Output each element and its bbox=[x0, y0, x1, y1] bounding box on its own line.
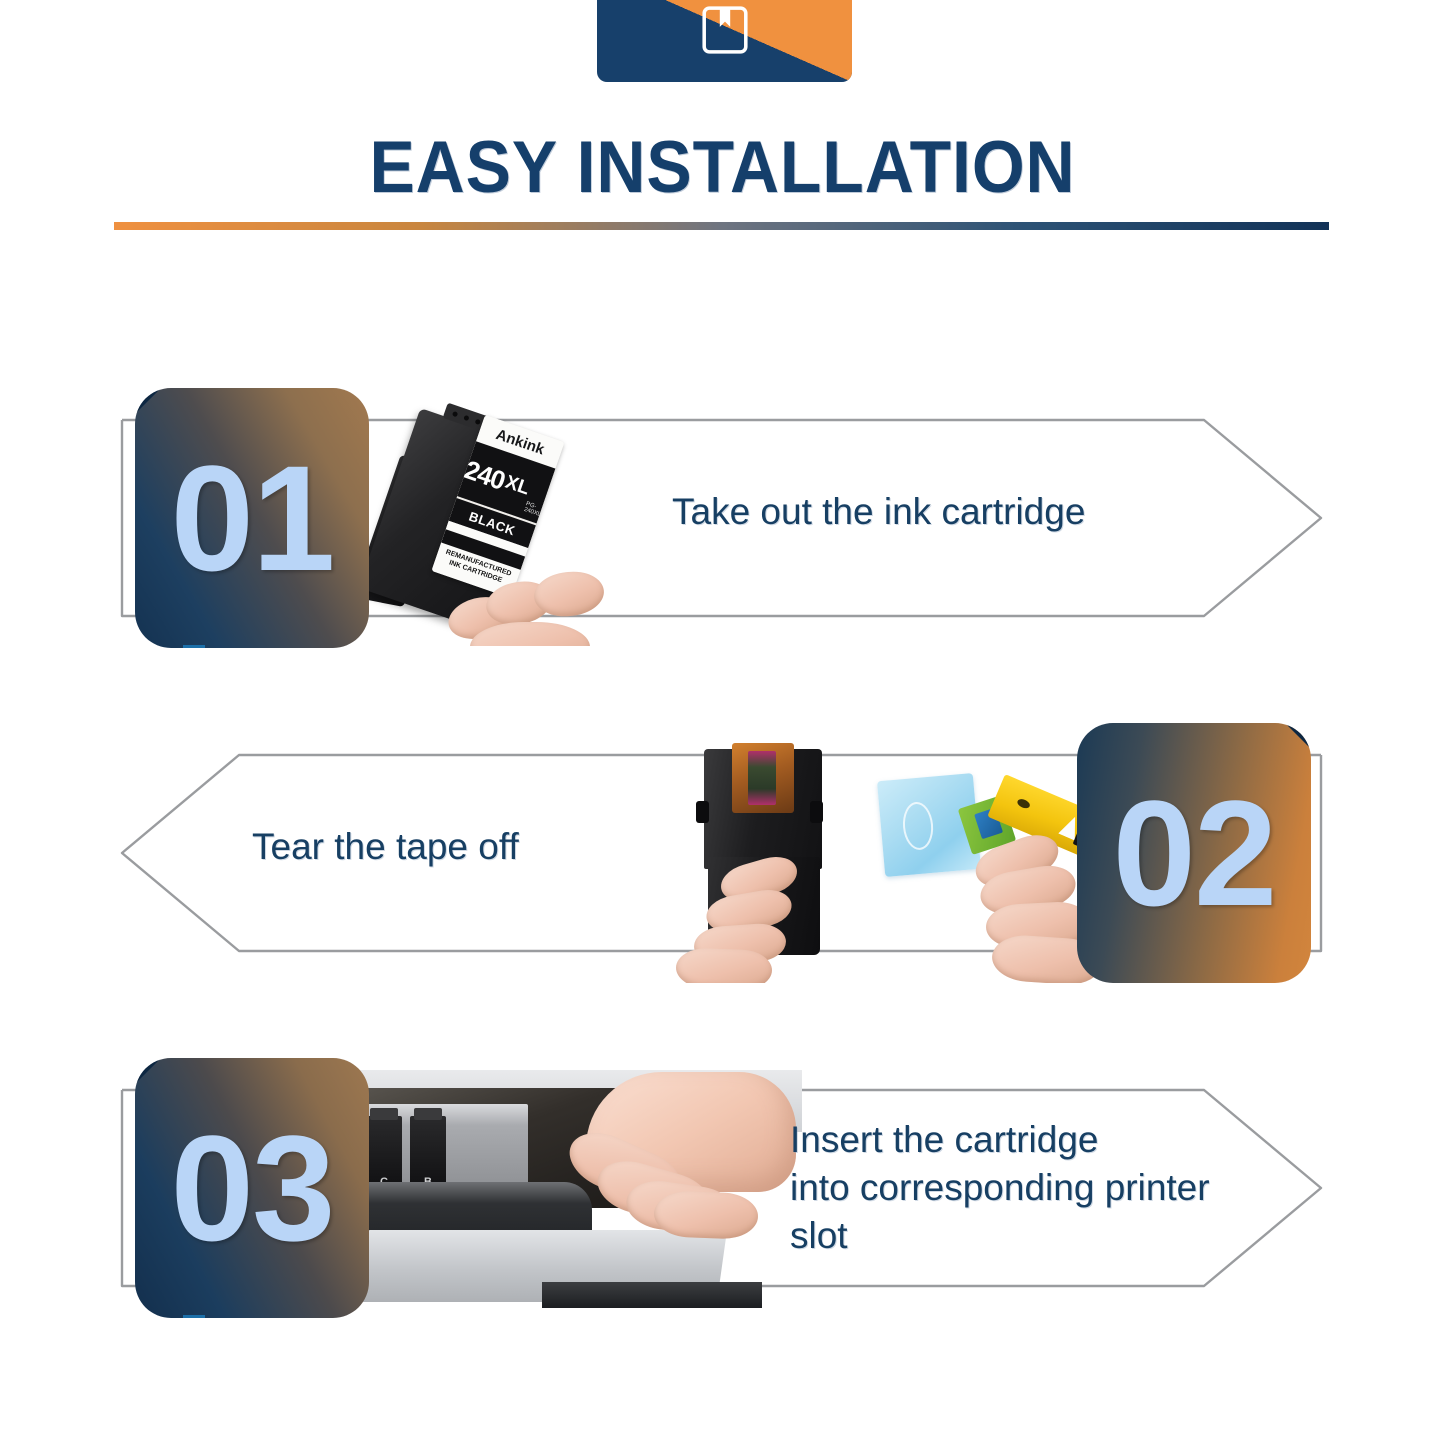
hand-holding-cartridge-2 bbox=[676, 853, 836, 983]
step-03-number-badge: 03 bbox=[135, 1058, 369, 1318]
step-02-number-badge: 02 bbox=[1077, 723, 1311, 983]
hand-holding-cartridge bbox=[430, 564, 620, 646]
step-01-number: 01 bbox=[171, 443, 334, 593]
hand-inserting-cartridge bbox=[522, 1072, 792, 1272]
step-01-number-badge: 01 bbox=[135, 388, 369, 648]
cartridge-2-nozzle bbox=[732, 743, 794, 813]
step-03-number: 03 bbox=[171, 1113, 334, 1263]
step-row-01: Ankink 240 XL PG-240XL BLACK REMANUFACTU… bbox=[0, 388, 1445, 648]
box-bookmark-icon bbox=[700, 4, 750, 56]
step-row-03: C B Insert the cartridge into correspond… bbox=[0, 1058, 1445, 1318]
step-row-02: Tear the tape off 02 bbox=[0, 723, 1445, 983]
step-03-text-line-1: Insert the cartridge bbox=[790, 1116, 1270, 1164]
step-03-badge-nub bbox=[183, 1315, 205, 1318]
header-badge bbox=[597, 0, 852, 82]
cartridge-size: XL bbox=[502, 472, 532, 501]
step-02-photo bbox=[676, 733, 1106, 983]
step-03-photo: C B bbox=[342, 1070, 802, 1310]
cartridge-sub: PG-240XL bbox=[523, 501, 543, 518]
step-03-text-line-2: into corresponding printer bbox=[790, 1164, 1270, 1212]
cartridge-2-ear-left bbox=[696, 801, 709, 823]
step-02-text: Tear the tape off bbox=[252, 823, 519, 871]
step-03-text-line-3: slot bbox=[790, 1212, 1270, 1260]
step-02-number: 02 bbox=[1113, 778, 1276, 928]
printer-base bbox=[542, 1282, 762, 1308]
title-divider bbox=[114, 222, 1329, 230]
step-01-badge-nub bbox=[183, 645, 205, 648]
cartridge-2-ear-right bbox=[810, 801, 823, 823]
page-title: EASY INSTALLATION bbox=[51, 126, 1395, 209]
step-01-text: Take out the ink cartridge bbox=[672, 488, 1085, 536]
step-01-photo: Ankink 240 XL PG-240XL BLACK REMANUFACTU… bbox=[368, 396, 668, 646]
step-03-text: Insert the cartridge into corresponding … bbox=[790, 1116, 1270, 1260]
